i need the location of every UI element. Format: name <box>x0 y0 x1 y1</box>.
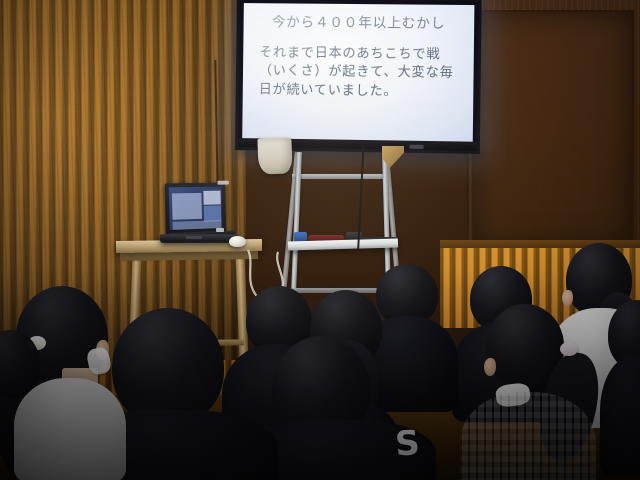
laptop-touchpad <box>186 236 202 239</box>
ear <box>484 358 496 376</box>
stand-top-rail <box>292 174 388 179</box>
stand-shelf <box>288 238 398 250</box>
wall-right-door-panel <box>472 10 634 250</box>
projection-screen: 今から４００年以上むかし それまで日本のあちこちで戦（いくさ）が起きて、大変な毎… <box>235 0 482 154</box>
screen-brand-logo <box>409 145 423 149</box>
head <box>112 308 224 426</box>
laptop-taskbar <box>173 220 222 230</box>
laptop-window-panel-top <box>203 191 221 205</box>
laptop <box>160 183 238 245</box>
laptop-brand-badge <box>216 228 224 232</box>
laptop-webcam-strip <box>217 181 228 185</box>
torso-sweater <box>460 392 596 480</box>
computer-mouse <box>229 236 246 247</box>
hair-tie <box>560 342 578 356</box>
projection-screen-surface: 今から４００年以上むかし それまで日本のあちこちで戦（いくさ）が起きて、大変な毎… <box>242 3 474 147</box>
slide-text-block: 今から４００年以上むかし それまで日本のあちこちで戦（いくさ）が起きて、大変な毎… <box>243 3 475 102</box>
laptop-window-main <box>172 193 202 220</box>
slide-body: それまで日本のあちこちで戦（いくさ）が起きて、大変な毎日が続いていました。 <box>257 44 460 102</box>
slide-title: 今から４００年以上むかし <box>258 15 460 32</box>
laptop-screen <box>169 187 223 230</box>
classroom-photo-scene: 今から４００年以上むかし それまで日本のあちこちで戦（いくさ）が起きて、大変な毎… <box>0 0 640 480</box>
torso <box>14 378 126 480</box>
hoodie-graphic-text: S <box>394 425 473 480</box>
ear <box>562 290 573 306</box>
